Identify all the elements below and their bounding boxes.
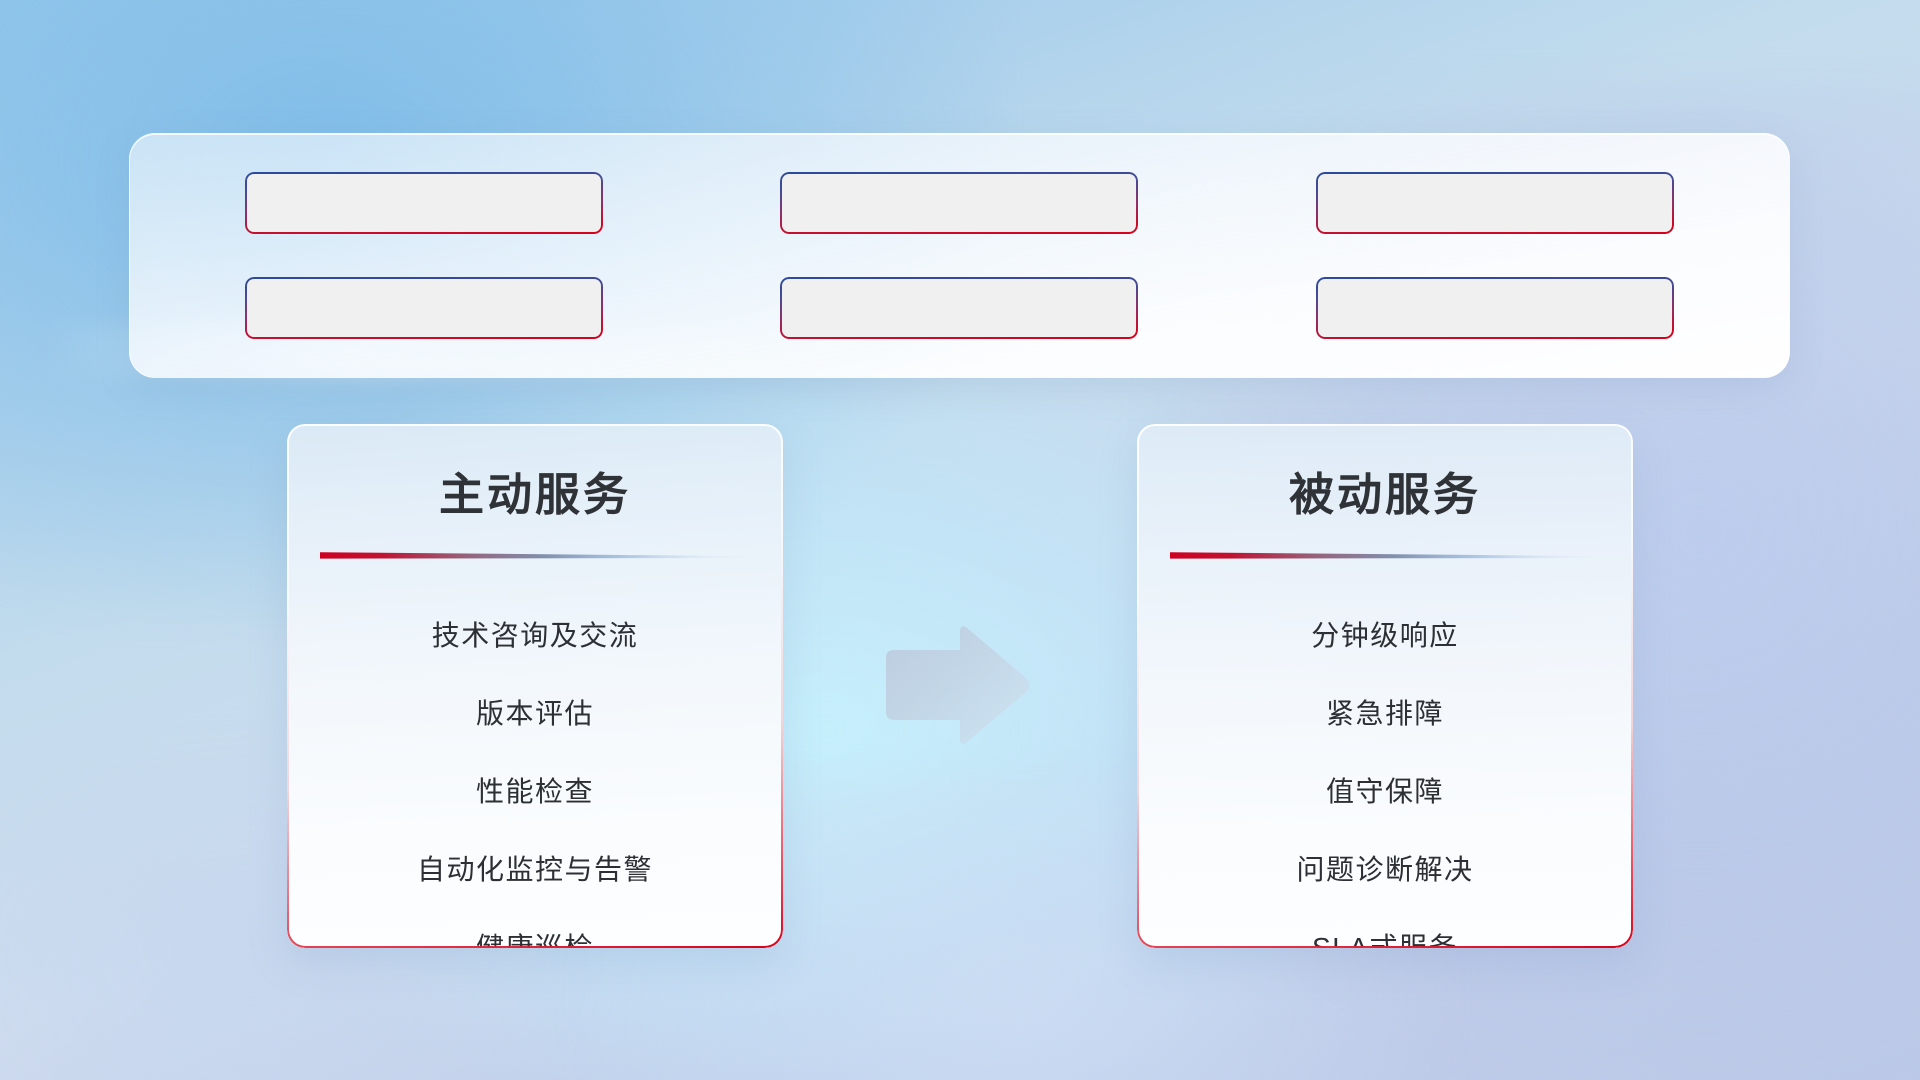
capability-pill-label: 智能化性能分析 (1397, 183, 1593, 222)
service-item: 分钟级响应 (1137, 595, 1633, 673)
capability-pill[interactable]: 自动化巡检工具 (245, 172, 603, 234)
capability-pill[interactable]: 标准化文档模板 (780, 277, 1138, 339)
title-divider (320, 549, 750, 561)
service-card-title: 主动服务 (287, 424, 783, 523)
service-item-list: 分钟级响应 紧急排障 值守保障 问题诊断解决 SLA式服务 (1137, 561, 1633, 948)
service-item: 紧急排障 (1137, 673, 1633, 751)
capability-panel: 自动化巡检工具 自动化性能数据采集 智能化性能分析 智能化性能分析 标准化文档模… (129, 133, 1790, 378)
service-item: 值守保障 (1137, 751, 1633, 829)
capability-pill-label: 集中监控平台 (1411, 289, 1579, 328)
service-card-reactive: 被动服务 分钟级响应 紧急排障 值守保障 问题诊断解决 SLA式服务 (1137, 424, 1633, 948)
service-card-proactive: 主动服务 技术咨询及交流 版本评估 性能检查 自动化监控与告警 健康巡检 (287, 424, 783, 948)
capability-pill[interactable]: 智能化性能分析 (245, 277, 603, 339)
capability-pill-grid: 自动化巡检工具 自动化性能数据采集 智能化性能分析 智能化性能分析 标准化文档模… (130, 134, 1789, 377)
capability-pill[interactable]: 集中监控平台 (1316, 277, 1674, 339)
capability-pill[interactable]: 智能化性能分析 (1316, 172, 1674, 234)
arrow-right-icon (876, 620, 1036, 750)
service-item: SLA式服务 (1137, 907, 1633, 948)
capability-pill-label: 标准化文档模板 (861, 289, 1057, 328)
service-item: 性能检查 (287, 751, 783, 829)
service-item: 自动化监控与告警 (287, 829, 783, 907)
capability-pill-label: 自动化巡检工具 (326, 183, 522, 222)
service-item: 技术咨询及交流 (287, 595, 783, 673)
service-card-title: 被动服务 (1137, 424, 1633, 523)
capability-pill-label: 自动化性能数据采集 (833, 183, 1085, 222)
capability-pill-label: 智能化性能分析 (326, 289, 522, 328)
title-divider (1170, 549, 1600, 561)
service-item: 问题诊断解决 (1137, 829, 1633, 907)
capability-pill[interactable]: 自动化性能数据采集 (780, 172, 1138, 234)
service-item-list: 技术咨询及交流 版本评估 性能检查 自动化监控与告警 健康巡检 (287, 561, 783, 948)
service-item: 健康巡检 (287, 907, 783, 948)
service-item: 版本评估 (287, 673, 783, 751)
